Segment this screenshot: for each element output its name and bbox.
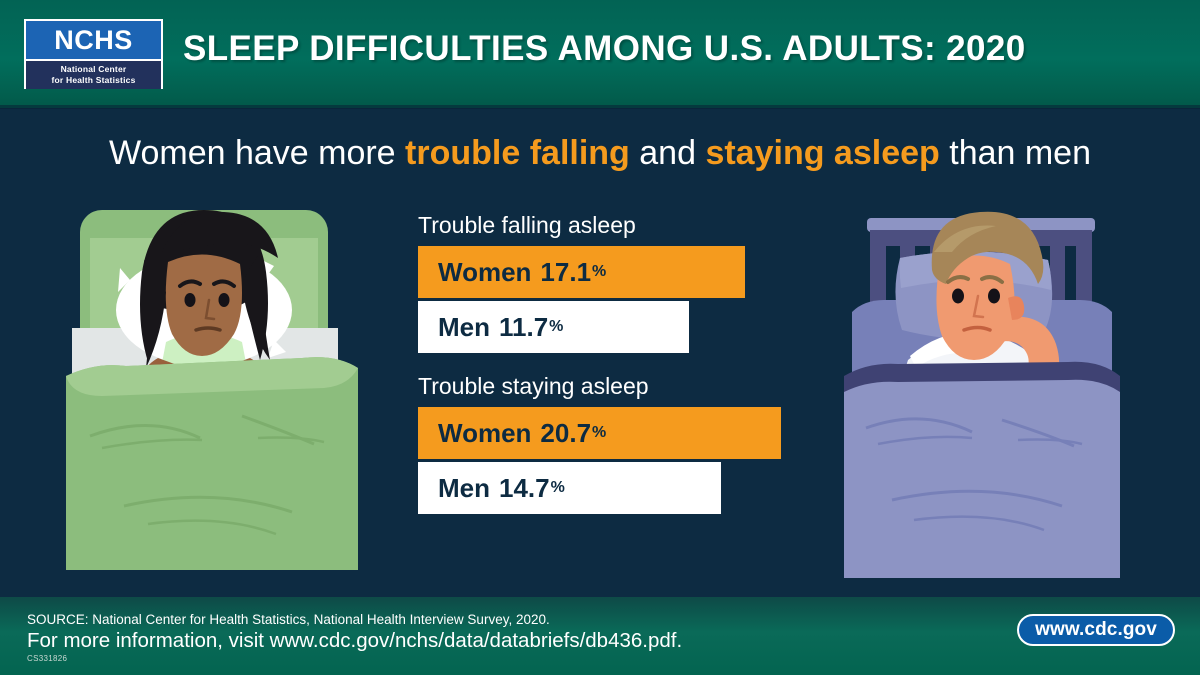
cdc-gov-link-label: www.cdc.gov xyxy=(1035,619,1157,641)
woman-awake-in-bed-illustration xyxy=(62,200,362,580)
bar-label-women-falling: Women xyxy=(438,257,531,288)
bar-label-men-falling: Men xyxy=(438,312,490,343)
footer-source-text: SOURCE: National Center for Health Stati… xyxy=(27,612,550,627)
bar-label-women-staying: Women xyxy=(438,418,531,449)
subtitle: Women have more trouble falling and stay… xyxy=(0,133,1200,174)
bar-percent-sign-women-falling: % xyxy=(592,263,606,281)
bar-women-trouble-falling: Women 17.1 % xyxy=(418,246,745,298)
nchs-logo: NCHS National Center for Health Statisti… xyxy=(24,19,163,89)
bar-percent-sign-women-staying: % xyxy=(592,424,606,442)
bar-value-women-falling: 17.1 xyxy=(540,257,591,288)
man-awake-in-bed-illustration xyxy=(822,200,1142,580)
nchs-logo-acronym-block: NCHS xyxy=(26,21,161,61)
infographic-canvas: NCHS National Center for Health Statisti… xyxy=(0,0,1200,675)
subtitle-part1: Women have more xyxy=(109,134,405,172)
bar-value-women-staying: 20.7 xyxy=(540,418,591,449)
nchs-logo-line2: for Health Statistics xyxy=(51,75,135,86)
bar-men-trouble-staying: Men 14.7 % xyxy=(418,462,721,514)
header-underline xyxy=(0,105,1200,109)
bar-percent-sign-men-falling: % xyxy=(549,318,563,336)
footer-cs-code: CS331826 xyxy=(27,654,67,663)
cdc-gov-link-badge[interactable]: www.cdc.gov xyxy=(1017,614,1175,646)
nchs-logo-name-block: National Center for Health Statistics xyxy=(26,61,161,89)
bar-women-trouble-staying: Women 20.7 % xyxy=(418,407,781,459)
bar-percent-sign-men-staying: % xyxy=(551,479,565,497)
bar-value-men-staying: 14.7 xyxy=(499,473,550,504)
subtitle-highlight-falling: trouble falling xyxy=(405,134,630,172)
sleep-difficulty-bar-chart: Trouble falling asleep Women 17.1 % Men … xyxy=(418,212,818,517)
chart-group-label-falling: Trouble falling asleep xyxy=(418,212,818,239)
bar-men-trouble-falling: Men 11.7 % xyxy=(418,301,689,353)
nchs-logo-acronym: NCHS xyxy=(54,27,133,54)
nchs-logo-line1: National Center xyxy=(61,64,127,75)
subtitle-highlight-staying: staying asleep xyxy=(705,134,939,172)
bar-value-men-falling: 11.7 xyxy=(499,312,548,343)
subtitle-part3: than men xyxy=(940,134,1091,172)
subtitle-part2: and xyxy=(630,134,706,172)
chart-group-label-staying: Trouble staying asleep xyxy=(418,373,818,400)
bar-label-men-staying: Men xyxy=(438,473,490,504)
footer-more-information-text: For more information, visit www.cdc.gov/… xyxy=(27,629,682,653)
page-title: SLEEP DIFFICULTIES AMONG U.S. ADULTS: 20… xyxy=(183,29,1026,69)
